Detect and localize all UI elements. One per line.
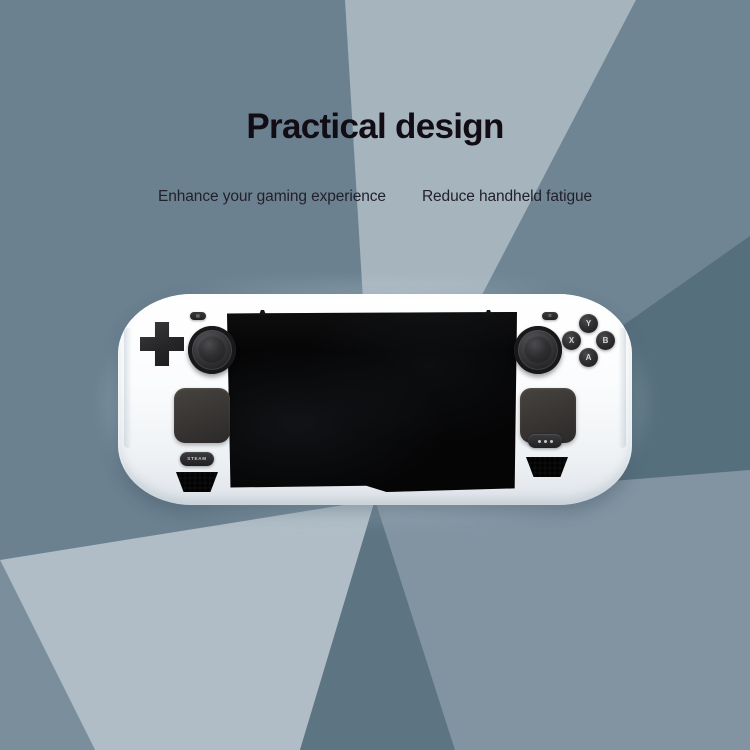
view-button-glyph: ▤ bbox=[190, 312, 206, 320]
dot-2 bbox=[544, 440, 547, 443]
menu-button-glyph: ☰ bbox=[542, 312, 558, 320]
dot-3 bbox=[550, 440, 553, 443]
dpad-icon[interactable] bbox=[140, 322, 184, 366]
screen-top-tab-right bbox=[485, 310, 492, 315]
screen-top-tab-left bbox=[259, 310, 266, 315]
steam-button[interactable]: STEAM bbox=[180, 452, 214, 466]
left-trackpad-icon[interactable] bbox=[174, 388, 230, 443]
headline-title: Practical design bbox=[0, 108, 750, 147]
menu-button-icon[interactable]: ☰ bbox=[542, 312, 558, 320]
button-a[interactable]: A bbox=[579, 348, 598, 367]
quick-access-dots-icon[interactable] bbox=[528, 434, 562, 448]
button-y[interactable]: Y bbox=[579, 314, 598, 333]
button-b[interactable]: B bbox=[596, 331, 615, 350]
abxy-button-cluster: Y X B A bbox=[562, 314, 616, 368]
dot-1 bbox=[538, 440, 541, 443]
handheld-console-image: ▤ STEAM ☰ Y X B A bbox=[118, 294, 632, 510]
subline-gaming-experience: Enhance your gaming experience bbox=[158, 188, 386, 206]
subline-handheld-fatigue: Reduce handheld fatigue bbox=[422, 188, 592, 206]
right-thumbstick-icon[interactable] bbox=[514, 326, 562, 374]
button-x[interactable]: X bbox=[562, 331, 581, 350]
subline-row: Enhance your gaming experience Reduce ha… bbox=[0, 188, 750, 206]
steam-button-label: STEAM bbox=[187, 457, 207, 462]
console-body: ▤ STEAM ☰ Y X B A bbox=[118, 294, 632, 505]
left-thumbstick-icon[interactable] bbox=[188, 326, 236, 374]
screen-reflection bbox=[227, 312, 517, 492]
console-screen bbox=[227, 312, 517, 492]
right-speaker-grille-icon bbox=[526, 457, 568, 477]
view-button-icon[interactable]: ▤ bbox=[190, 312, 206, 320]
left-speaker-grille-icon bbox=[176, 472, 218, 492]
product-marketing-banner: Practical design Enhance your gaming exp… bbox=[0, 0, 750, 750]
